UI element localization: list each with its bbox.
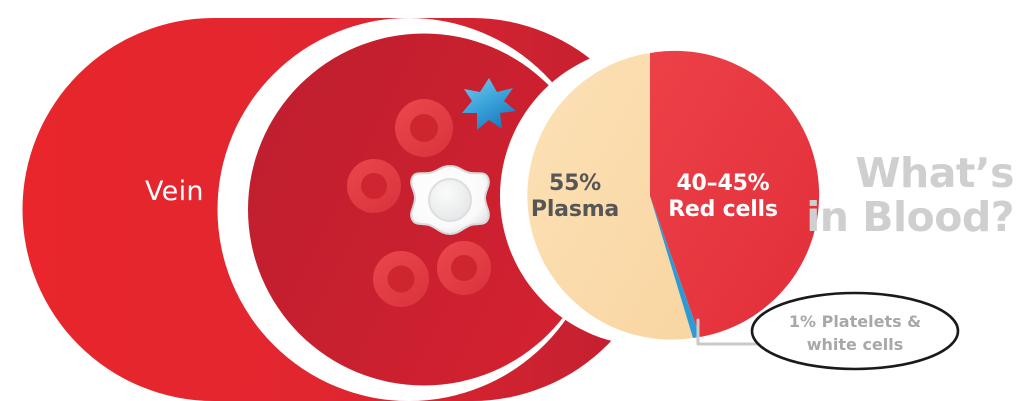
red-cells-percent-label: 40–45% bbox=[676, 171, 769, 196]
infographic-canvas: Vein 55% Plasma 40–45% Red cells 1% Plat… bbox=[0, 0, 1024, 401]
page-title: What’s in Blood? bbox=[806, 149, 1014, 241]
pie-chart: 55% Plasma 40–45% Red cells bbox=[500, 46, 819, 346]
platelets-callout: 1% Platelets & white cells bbox=[752, 293, 958, 369]
callout-line-1: 1% Platelets & bbox=[789, 312, 921, 331]
red-blood-cell bbox=[395, 99, 453, 157]
red-blood-cell bbox=[437, 241, 491, 295]
callout-line-2: white cells bbox=[807, 335, 904, 354]
plasma-name-label: Plasma bbox=[531, 197, 619, 222]
plasma-percent-label: 55% bbox=[549, 171, 601, 196]
white-blood-cell bbox=[411, 166, 489, 234]
blood-composition-infographic: Vein 55% Plasma 40–45% Red cells 1% Plat… bbox=[0, 0, 1024, 401]
red-blood-cell bbox=[347, 159, 401, 213]
callout-ellipse-outline bbox=[752, 293, 958, 369]
title-line-1: What’s bbox=[855, 149, 1014, 197]
white-blood-cell-nucleus bbox=[429, 179, 471, 221]
red-blood-cell bbox=[373, 251, 429, 307]
title-line-2: in Blood? bbox=[806, 193, 1014, 241]
vein-label: Vein bbox=[145, 176, 204, 207]
red-cells-name-label: Red cells bbox=[668, 197, 778, 222]
